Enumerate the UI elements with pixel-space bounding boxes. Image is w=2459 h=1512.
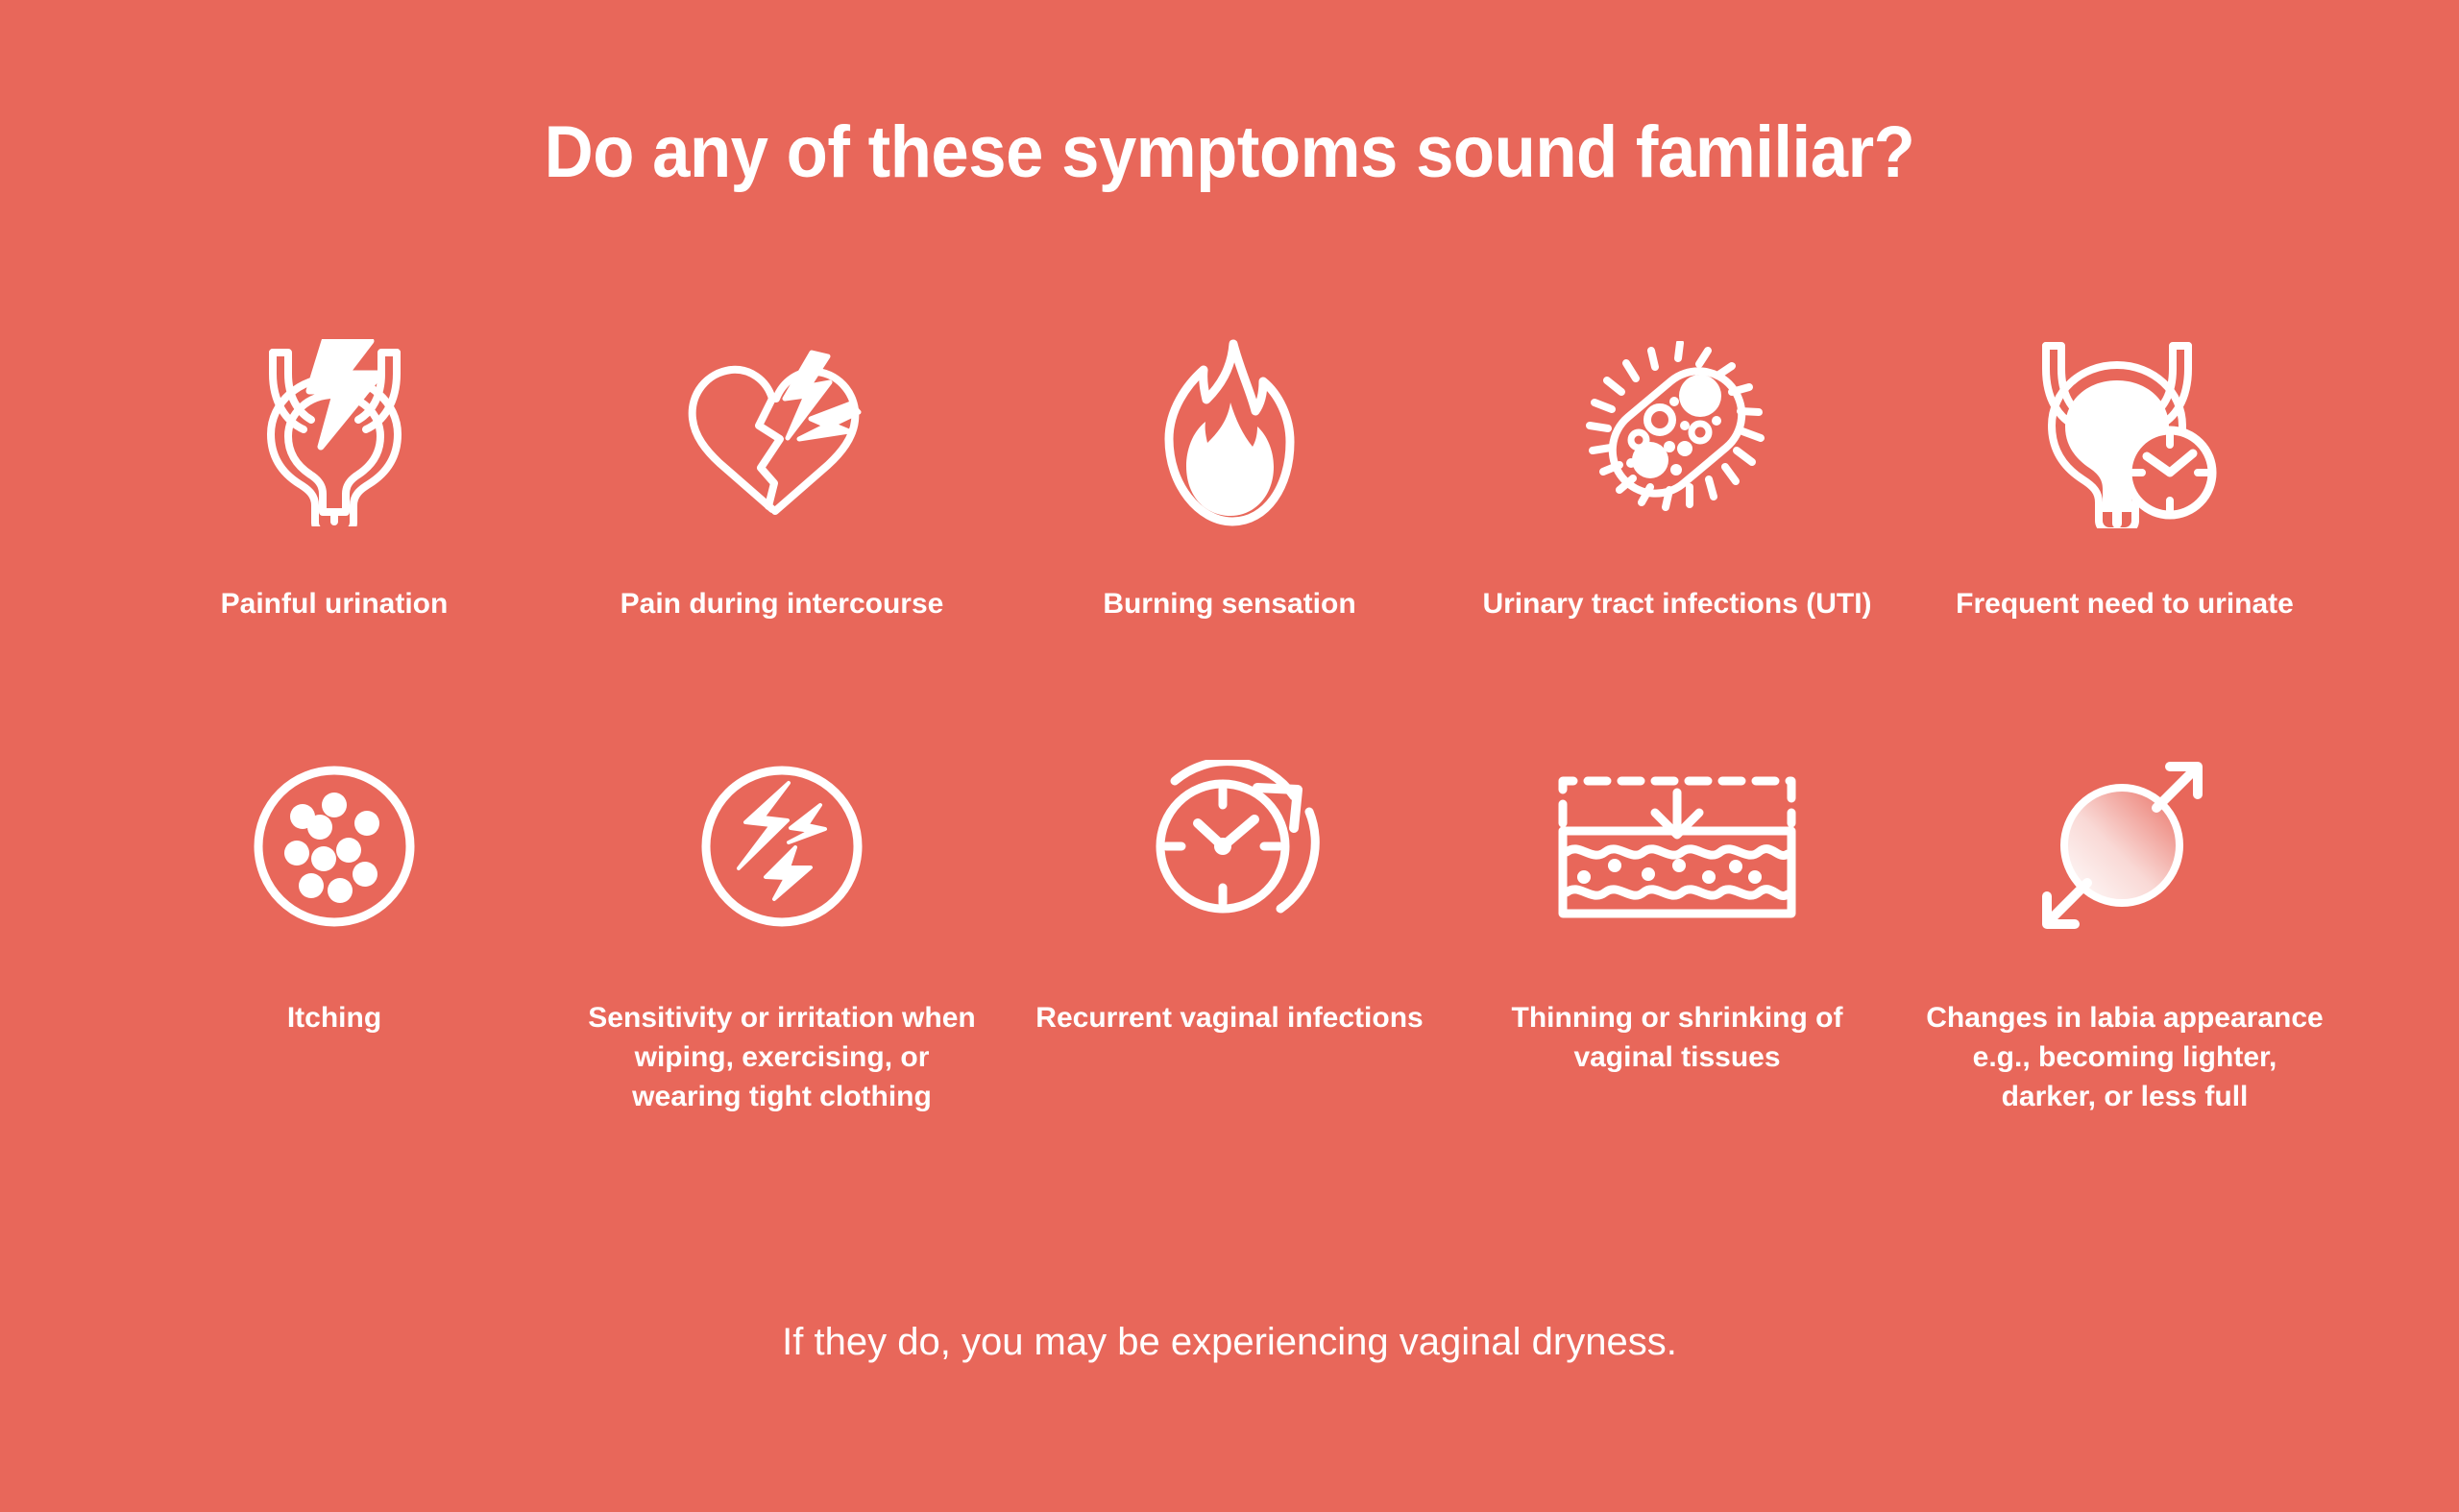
flame-icon <box>1157 327 1302 538</box>
footer-text: If they do, you may be experiencing vagi… <box>0 1318 2459 1366</box>
skin-layer-thinning-icon <box>1557 747 1797 944</box>
symptom-label: Sensitivity or irritation when wiping, e… <box>580 998 984 1116</box>
symptom-item: Sensitivity or irritation when wiping, e… <box>558 747 1006 1151</box>
broken-heart-lightning-icon <box>676 327 888 538</box>
symptom-label: Changes in labia appearance e.g., becomi… <box>1923 998 2326 1116</box>
symptom-label: Itching <box>287 998 381 1037</box>
symptom-label: Burning sensation <box>1103 584 1355 623</box>
symptom-item: Urinary tract infections (UTI) <box>1453 327 1901 749</box>
symptom-item: Recurrent vaginal infections <box>1006 747 1453 1151</box>
symptom-item: Itching <box>110 747 558 1151</box>
symptom-item: Thinning or shrinking of vaginal tissues <box>1453 747 1901 1151</box>
symptom-label: Painful urination <box>221 584 449 623</box>
bladder-lightning-icon <box>246 327 424 538</box>
circle-gradient-arrows-icon <box>2033 747 2216 944</box>
symptom-label: Frequent need to urinate <box>1956 584 2294 623</box>
lightning-bolts-circle-icon <box>699 747 864 944</box>
symptom-item: Burning sensation <box>1006 327 1453 749</box>
infographic-poster: Do any of these symptoms sound familiar? <box>0 0 2459 1512</box>
clock-recurring-arrow-icon <box>1138 747 1321 944</box>
rash-dots-circle-icon <box>252 747 417 944</box>
bacteria-icon <box>1581 327 1773 538</box>
symptom-label: Thinning or shrinking of vaginal tissues <box>1475 998 1879 1077</box>
symptom-label: Urinary tract infections (UTI) <box>1482 584 1871 623</box>
symptom-grid-row-1: Painful urination Pain during interc <box>110 327 2349 749</box>
symptom-item: Painful urination <box>110 327 558 749</box>
page-title: Do any of these symptoms sound familiar? <box>86 111 2374 194</box>
symptom-grid-row-2: Itching Sensitivity or irritation w <box>110 747 2349 1151</box>
symptom-label: Pain during intercourse <box>621 584 944 623</box>
symptom-item: Pain during intercourse <box>558 327 1006 749</box>
symptom-item: Changes in labia appearance e.g., becomi… <box>1901 747 2349 1151</box>
symptom-item: Frequent need to urinate <box>1901 327 2349 749</box>
symptom-label: Recurrent vaginal infections <box>1035 998 1423 1037</box>
bladder-clock-icon <box>2029 327 2221 538</box>
